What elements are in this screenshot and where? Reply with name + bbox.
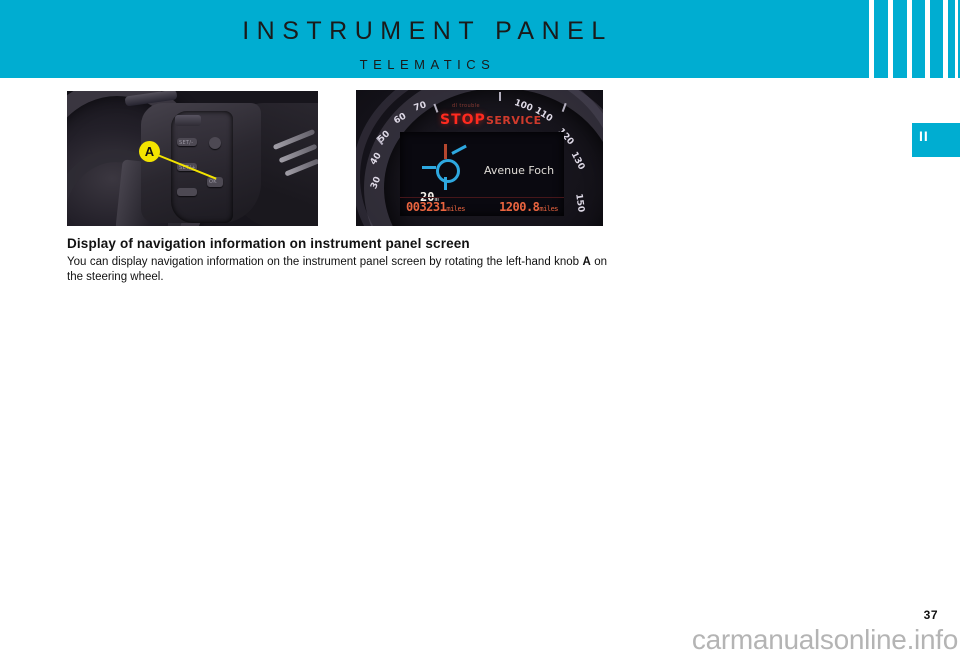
page-subtitle: TELEMATICS xyxy=(0,58,855,71)
header-stripe xyxy=(855,0,869,78)
section-heading: Display of navigation information on ins… xyxy=(67,236,627,252)
control-label: SET/- xyxy=(179,140,193,146)
header-stripe xyxy=(930,0,943,78)
page-header: INSTRUMENT PANEL TELEMATICS xyxy=(0,0,960,78)
body-text-bold-a: A xyxy=(582,256,590,268)
service-warning-light: SERVICE xyxy=(486,114,542,127)
header-stripe xyxy=(912,0,925,78)
trip-meter-reading: 1200.8miles xyxy=(499,200,558,214)
roundabout-exit-arm-diagonal xyxy=(451,145,467,155)
watermark: carmanualsonline.info xyxy=(692,624,958,656)
dial-tick xyxy=(562,103,567,112)
header-stripe xyxy=(874,0,888,78)
roundabout-icon xyxy=(422,144,472,190)
instrument-panel-screen: Avenue Foch 20m 003231miles 1200.8miles xyxy=(400,132,564,216)
figure-steering-wheel: SET/- SET/+ OK A xyxy=(67,91,318,226)
trip-value: 1200.8 xyxy=(499,200,539,214)
header-stripe xyxy=(893,0,907,78)
figure-instrument-cluster: 30 40 50 60 70 100 110 120 130 150 dl tr… xyxy=(356,90,603,226)
page-number: 37 xyxy=(924,608,938,622)
odometer-row: 003231miles 1200.8miles xyxy=(400,197,564,216)
callout-marker-a: A xyxy=(139,141,160,162)
roundabout-exit-arm-up xyxy=(444,144,447,159)
body-text-before: You can display navigation information o… xyxy=(67,256,582,268)
header-stripe-pattern xyxy=(855,0,960,78)
odometer-reading: 003231miles xyxy=(406,200,465,214)
dial-tick xyxy=(499,92,501,101)
chapter-tab: II xyxy=(912,123,960,157)
dial-tick xyxy=(433,104,438,113)
street-name-text: Avenue Foch xyxy=(484,164,554,177)
odometer-unit: miles xyxy=(446,205,465,213)
roundabout-entry-arm xyxy=(422,166,436,169)
stop-warning-light: STOP xyxy=(440,112,486,128)
roundabout-ring xyxy=(436,159,460,183)
control-button[interactable] xyxy=(177,188,197,196)
trip-unit: miles xyxy=(539,205,558,213)
page-title: INSTRUMENT PANEL xyxy=(0,19,855,44)
section-body-text: You can display navigation information o… xyxy=(67,255,607,285)
warning-subtext: dl trouble xyxy=(452,103,480,109)
odometer-value: 003231 xyxy=(406,200,446,214)
control-button[interactable] xyxy=(209,137,221,149)
left-hand-knob[interactable] xyxy=(175,115,201,126)
roundabout-exit-arm-down xyxy=(444,177,447,190)
header-stripe xyxy=(948,0,955,78)
chapter-tab-label: II xyxy=(919,129,929,143)
